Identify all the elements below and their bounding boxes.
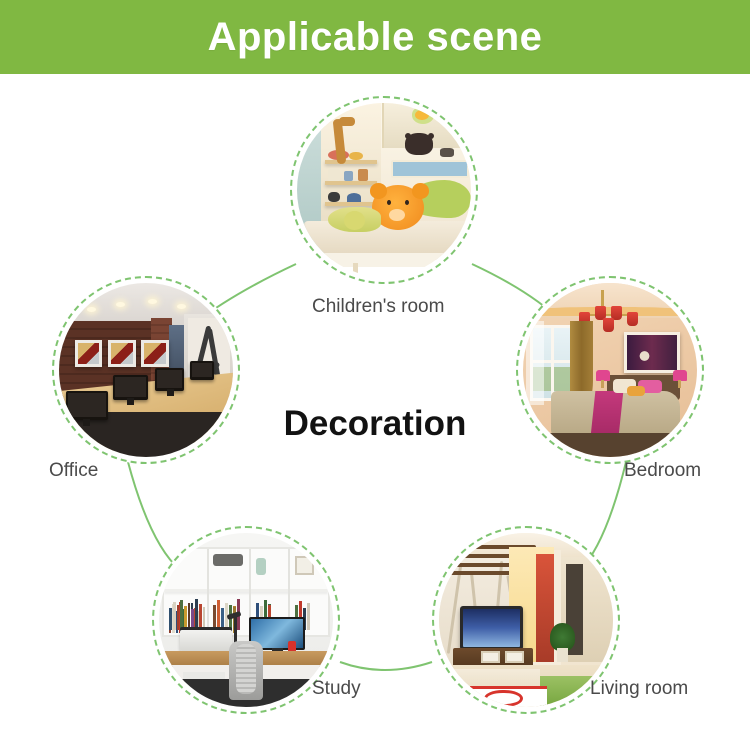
scene-photo-bedroom <box>523 283 697 457</box>
scene-node-office[interactable]: Office <box>52 276 240 464</box>
scene-circle-bedroom <box>516 276 704 464</box>
scene-label-study: Study <box>312 678 361 700</box>
scene-label-living-room: Living room <box>590 678 688 700</box>
scene-photo-living-room <box>439 533 613 707</box>
scene-node-children-room[interactable]: Children's room <box>290 96 478 284</box>
scene-circle-children-room <box>290 96 478 284</box>
scene-photo-study <box>159 533 333 707</box>
diagram-stage: Decoration <box>0 74 750 750</box>
scene-node-bedroom[interactable]: Bedroom <box>516 276 704 464</box>
scene-node-study[interactable]: Study <box>152 526 340 714</box>
page-title: Applicable scene <box>208 17 543 57</box>
applicable-scene-infographic: Applicable scene Decoration <box>0 0 750 750</box>
scene-node-living-room[interactable]: Living room <box>432 526 620 714</box>
scene-label-bedroom: Bedroom <box>624 460 701 482</box>
scene-circle-office <box>52 276 240 464</box>
scene-photo-children-room <box>297 103 471 277</box>
scene-label-office: Office <box>49 460 98 482</box>
header-banner: Applicable scene <box>0 0 750 74</box>
scene-label-children-room: Children's room <box>312 296 444 318</box>
scene-photo-office <box>59 283 233 457</box>
